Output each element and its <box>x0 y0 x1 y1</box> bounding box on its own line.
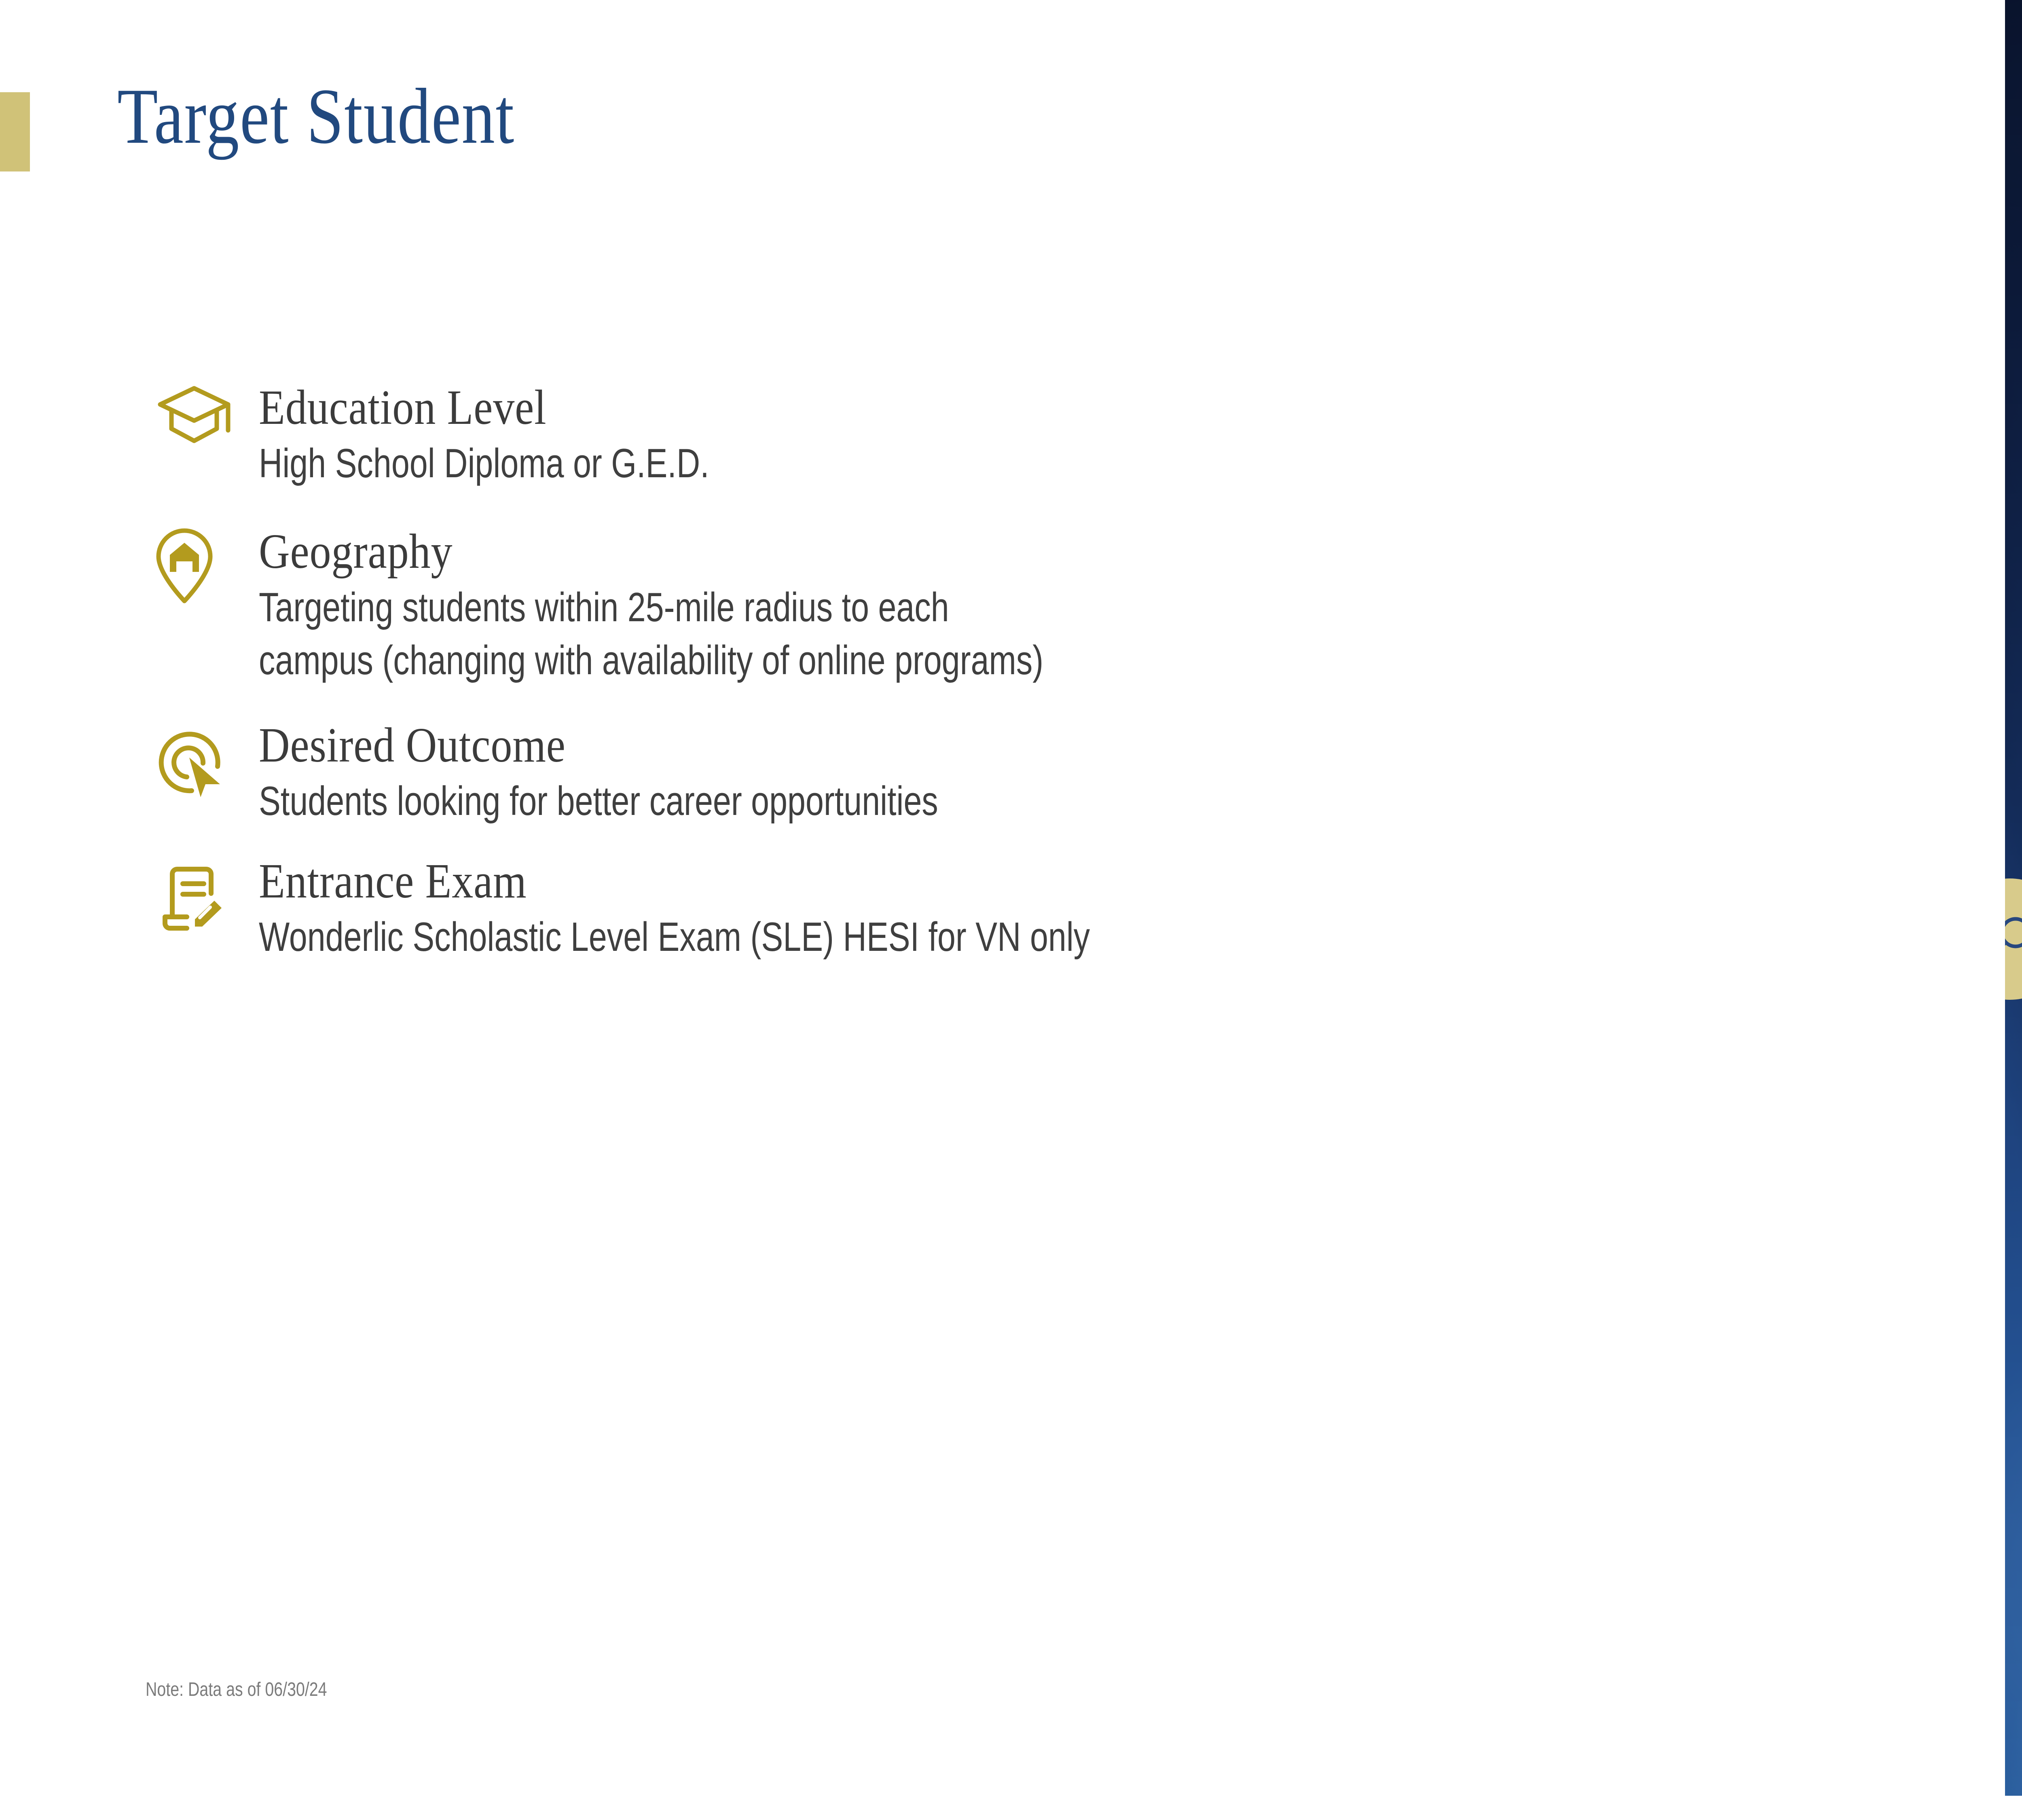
feature-heading: Education Level <box>259 380 749 436</box>
feature-text: Education Level High School Diploma or G… <box>259 380 822 490</box>
magnifier-icon <box>2005 878 2022 1000</box>
feature-body: Wonderlic Scholastic Level Exam (SLE) HE… <box>259 911 1090 964</box>
feature-heading: Desired Outcome <box>259 718 998 773</box>
document-pencil-icon <box>154 854 259 941</box>
profile-panel: LEGACY EDUCATION Student Profile Over 50… <box>2005 0 2022 1796</box>
footnote: Note: Data as of 06/30/24 <box>146 1678 327 1701</box>
slide-canvas: Target Student Education Level High Scho… <box>0 0 2022 1820</box>
list-item: Education Level High School Diploma or G… <box>154 380 1893 490</box>
list-item: Entrance Exam Wonderlic Scholastic Level… <box>154 854 1893 964</box>
feature-text: Entrance Exam Wonderlic Scholastic Level… <box>259 854 1298 964</box>
feature-body: Targeting students within 25-mile radius… <box>259 581 1043 688</box>
graduation-cap-icon <box>154 380 259 467</box>
feature-text: Desired Outcome Students looking for bet… <box>259 718 1108 828</box>
title-accent-bar <box>0 92 30 171</box>
map-pin-home-icon <box>154 524 259 611</box>
list-item: Geography Targeting students within 25-m… <box>154 524 1893 687</box>
feature-heading: Entrance Exam <box>259 854 1163 909</box>
list-item: Desired Outcome Students looking for bet… <box>154 718 1893 828</box>
feature-body: Students looking for better career oppor… <box>259 775 938 828</box>
feature-body: High School Diploma or G.E.D. <box>259 437 709 490</box>
target-cursor-icon <box>154 718 259 805</box>
feature-list: Education Level High School Diploma or G… <box>154 380 1893 994</box>
page-title: Target Student <box>117 76 515 157</box>
feature-heading: Geography <box>259 524 1112 580</box>
feature-text: Geography Targeting students within 25-m… <box>259 524 1239 687</box>
